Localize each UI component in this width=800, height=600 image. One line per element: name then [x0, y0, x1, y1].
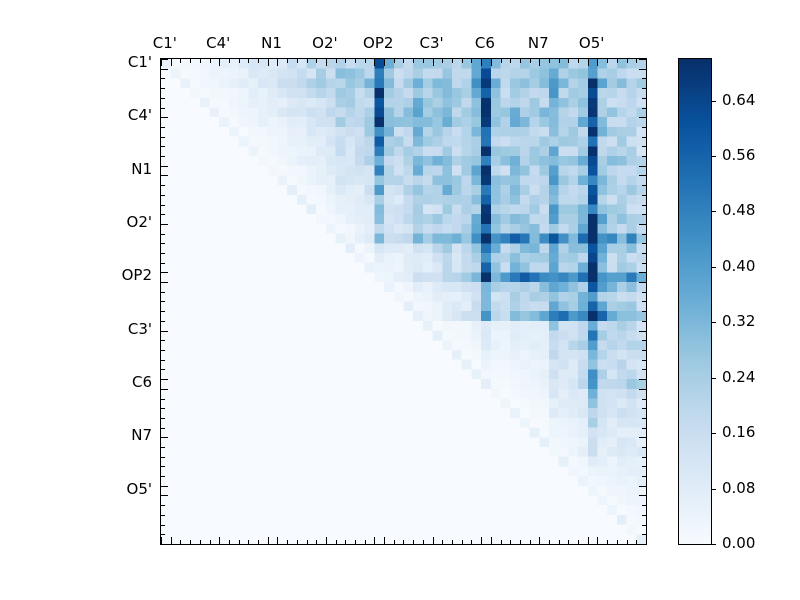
- x-tick-label: C4': [206, 34, 230, 52]
- x-tick-bottom: [307, 540, 308, 544]
- x-tick-bottom: [355, 540, 356, 544]
- y-tick-left: [161, 127, 165, 128]
- x-tick-top: [316, 59, 317, 63]
- y-tick-right: [642, 476, 646, 477]
- x-tick-bottom: [481, 537, 482, 544]
- y-tick-left: [161, 69, 168, 70]
- colorbar-gradient: [679, 59, 711, 544]
- x-tick-bottom: [345, 540, 346, 544]
- x-tick-label: N7: [528, 34, 549, 52]
- x-tick-top: [501, 59, 502, 63]
- x-tick-bottom: [413, 540, 414, 544]
- x-tick-top: [530, 59, 531, 63]
- x-tick-top: [491, 59, 492, 66]
- y-tick-label-text: OP2: [122, 266, 152, 284]
- y-tick-left: [161, 331, 168, 332]
- y-tick-right: [642, 418, 646, 419]
- x-tick-bottom: [578, 540, 579, 544]
- y-tick-left: [161, 369, 165, 370]
- y-tick-left: [161, 379, 168, 380]
- x-tick-bottom: [190, 540, 191, 544]
- y-tick-right: [639, 495, 646, 496]
- y-tick-left: [161, 166, 168, 167]
- y-tick-right: [642, 195, 646, 196]
- y-tick-right: [642, 205, 646, 206]
- y-tick-right: [639, 437, 646, 438]
- x-tick-top: [307, 59, 308, 63]
- x-tick-bottom: [326, 537, 327, 544]
- y-tick-left: [161, 88, 165, 89]
- y-tick-left: [161, 428, 165, 429]
- x-tick-bottom: [627, 540, 628, 544]
- x-tick-bottom: [607, 540, 608, 544]
- x-tick-bottom: [491, 537, 492, 544]
- x-tick-bottom: [277, 537, 278, 544]
- y-tick-left: [161, 525, 165, 526]
- x-tick-bottom: [617, 540, 618, 544]
- x-tick-top: [462, 59, 463, 63]
- y-tick-right: [642, 137, 646, 138]
- y-tick-right: [642, 185, 646, 186]
- colorbar-tick-label: 0.64: [722, 91, 755, 109]
- y-tick-left: [161, 399, 165, 400]
- y-tick-left: [161, 224, 168, 225]
- colorbar-tick: [711, 489, 716, 490]
- y-tick-left: [161, 495, 168, 496]
- y-tick-left: [161, 311, 165, 312]
- x-tick-top: [239, 59, 240, 63]
- y-tick-right: [642, 466, 646, 467]
- x-tick-bottom: [510, 540, 511, 544]
- x-tick-top: [384, 59, 385, 66]
- colorbar-canvas: [679, 59, 711, 544]
- x-tick-bottom: [442, 540, 443, 544]
- x-tick-bottom: [568, 540, 569, 544]
- y-tick-right: [639, 166, 646, 167]
- heatmap-axes: [160, 58, 647, 545]
- y-tick-right: [642, 340, 646, 341]
- y-tick-left: [161, 544, 165, 545]
- x-tick-top: [258, 59, 259, 63]
- x-tick-bottom: [423, 540, 424, 544]
- x-tick-top: [510, 59, 511, 63]
- x-tick-top: [471, 59, 472, 63]
- y-tick-right: [642, 408, 646, 409]
- y-tick-label-text: C6: [132, 373, 152, 391]
- x-tick-bottom: [200, 540, 201, 544]
- y-tick-left: [161, 98, 165, 99]
- y-tick-left: [161, 175, 168, 176]
- y-tick-right: [642, 457, 646, 458]
- x-tick-top: [403, 59, 404, 63]
- y-tick-right: [639, 59, 646, 60]
- y-tick-right: [642, 369, 646, 370]
- y-tick-left: [161, 243, 165, 244]
- y-tick-left: [161, 340, 165, 341]
- y-tick-left: [161, 418, 165, 419]
- x-tick-top: [326, 59, 327, 66]
- x-tick-bottom: [559, 540, 560, 544]
- y-tick-right: [642, 544, 646, 545]
- y-tick-left: [161, 59, 168, 60]
- y-tick-right: [642, 78, 646, 79]
- colorbar: [678, 58, 712, 545]
- x-tick-bottom: [287, 540, 288, 544]
- y-tick-left: [161, 292, 165, 293]
- x-tick-label: C6: [475, 34, 495, 52]
- y-tick-right: [642, 292, 646, 293]
- x-tick-bottom: [539, 537, 540, 544]
- y-tick-right: [639, 389, 646, 390]
- y-tick-left: [161, 301, 165, 302]
- x-tick-bottom: [403, 540, 404, 544]
- colorbar-tick-label: 0.56: [722, 146, 755, 164]
- x-tick-top: [481, 59, 482, 66]
- y-tick-right: [642, 98, 646, 99]
- y-tick-label-text: O2': [127, 213, 152, 231]
- colorbar-tick-label: 0.24: [722, 368, 755, 386]
- y-tick-label-text: C4': [128, 106, 152, 124]
- y-tick-left: [161, 195, 165, 196]
- y-tick-left: [161, 282, 168, 283]
- x-tick-bottom: [646, 540, 647, 544]
- y-tick-right: [642, 321, 646, 322]
- x-tick-bottom: [530, 540, 531, 544]
- x-tick-top: [287, 59, 288, 63]
- x-tick-bottom: [258, 540, 259, 544]
- x-tick-top: [636, 59, 637, 63]
- x-tick-top: [297, 59, 298, 63]
- x-tick-top: [219, 59, 220, 66]
- x-tick-label: O2': [312, 34, 337, 52]
- y-tick-label-text: N1: [131, 160, 152, 178]
- x-tick-top: [617, 59, 618, 63]
- y-tick-left: [161, 117, 168, 118]
- x-tick-bottom: [248, 540, 249, 544]
- colorbar-tick: [711, 101, 716, 102]
- x-tick-label: O5': [579, 34, 604, 52]
- x-tick-bottom: [597, 537, 598, 544]
- x-tick-top: [568, 59, 569, 63]
- x-tick-bottom: [365, 540, 366, 544]
- x-tick-label: OP2: [363, 34, 393, 52]
- colorbar-tick: [711, 267, 716, 268]
- x-tick-top: [433, 59, 434, 66]
- x-tick-top: [646, 59, 647, 63]
- x-tick-bottom: [239, 540, 240, 544]
- y-tick-right: [639, 117, 646, 118]
- colorbar-tick-label: 0.48: [722, 201, 755, 219]
- x-tick-top: [336, 59, 337, 63]
- y-tick-left: [161, 437, 168, 438]
- colorbar-tick: [711, 378, 716, 379]
- x-tick-top: [161, 59, 162, 66]
- y-tick-left: [161, 505, 165, 506]
- y-tick-left: [161, 272, 168, 273]
- x-tick-top: [277, 59, 278, 66]
- x-tick-bottom: [520, 540, 521, 544]
- colorbar-tick: [711, 322, 716, 323]
- x-tick-label: N1: [261, 34, 282, 52]
- y-tick-right: [642, 127, 646, 128]
- y-tick-left: [161, 205, 165, 206]
- x-tick-top: [345, 59, 346, 63]
- x-tick-bottom: [336, 540, 337, 544]
- x-tick-bottom: [636, 540, 637, 544]
- y-tick-left: [161, 408, 165, 409]
- x-tick-bottom: [394, 540, 395, 544]
- x-tick-top: [539, 59, 540, 66]
- y-tick-left: [161, 78, 165, 79]
- x-tick-top: [180, 59, 181, 63]
- x-tick-bottom: [588, 537, 589, 544]
- y-tick-label-text: O5': [127, 480, 152, 498]
- y-tick-label-text: C1': [128, 53, 152, 71]
- x-tick-bottom: [161, 537, 162, 544]
- y-tick-left: [161, 486, 168, 487]
- x-tick-bottom: [219, 537, 220, 544]
- y-tick-left: [161, 321, 165, 322]
- y-tick-right: [639, 69, 646, 70]
- x-tick-top: [452, 59, 453, 63]
- y-tick-right: [642, 311, 646, 312]
- y-tick-left: [161, 389, 168, 390]
- x-tick-label: C1': [153, 34, 177, 52]
- x-tick-bottom: [316, 540, 317, 544]
- colorbar-tick: [711, 156, 716, 157]
- x-tick-label: C3': [420, 34, 444, 52]
- y-tick-right: [642, 525, 646, 526]
- x-tick-top: [394, 59, 395, 63]
- x-tick-bottom: [384, 537, 385, 544]
- y-tick-left: [161, 234, 165, 235]
- colorbar-tick-label: 0.40: [722, 257, 755, 275]
- heatmap-grid: [161, 59, 646, 544]
- y-tick-left: [161, 108, 165, 109]
- x-tick-bottom: [297, 540, 298, 544]
- y-tick-left: [161, 350, 165, 351]
- x-tick-top: [210, 59, 211, 63]
- y-tick-left: [161, 447, 165, 448]
- x-tick-top: [549, 59, 550, 63]
- y-tick-right: [642, 243, 646, 244]
- y-tick-left: [161, 185, 165, 186]
- y-tick-right: [639, 175, 646, 176]
- y-tick-right: [642, 515, 646, 516]
- y-tick-left: [161, 263, 165, 264]
- y-tick-left: [161, 515, 165, 516]
- x-tick-top: [413, 59, 414, 63]
- y-tick-right: [642, 301, 646, 302]
- colorbar-tick-label: 0.00: [722, 534, 755, 552]
- x-tick-top: [627, 59, 628, 63]
- y-tick-right: [639, 331, 646, 332]
- y-tick-right: [642, 263, 646, 264]
- x-tick-bottom: [471, 540, 472, 544]
- heatmap-cells: [161, 59, 646, 544]
- y-tick-right: [642, 88, 646, 89]
- x-tick-top: [607, 59, 608, 63]
- x-tick-bottom: [210, 540, 211, 544]
- y-tick-left: [161, 156, 165, 157]
- y-tick-right: [642, 447, 646, 448]
- x-tick-bottom: [171, 537, 172, 544]
- y-tick-right: [642, 399, 646, 400]
- x-tick-bottom: [549, 540, 550, 544]
- x-tick-top: [578, 59, 579, 63]
- y-tick-right: [639, 379, 646, 380]
- x-tick-bottom: [462, 540, 463, 544]
- x-tick-top: [200, 59, 201, 63]
- x-tick-top: [520, 59, 521, 63]
- y-tick-right: [642, 253, 646, 254]
- y-tick-right: [639, 224, 646, 225]
- y-tick-left: [161, 457, 165, 458]
- x-tick-bottom: [433, 537, 434, 544]
- y-tick-right: [642, 428, 646, 429]
- y-tick-left: [161, 360, 165, 361]
- x-tick-bottom: [229, 540, 230, 544]
- y-tick-right: [642, 156, 646, 157]
- y-tick-right: [642, 214, 646, 215]
- x-tick-bottom: [268, 537, 269, 544]
- colorbar-tick-label: 0.08: [722, 479, 755, 497]
- heatmap-figure: C1'C4'N1O2'OP2C3'C6N7O5' C1'C4'N1O2'OP2C…: [0, 0, 800, 600]
- y-tick-label-text: N7: [131, 426, 152, 444]
- y-tick-right: [642, 350, 646, 351]
- x-tick-top: [597, 59, 598, 66]
- x-tick-bottom: [374, 537, 375, 544]
- x-tick-top: [442, 59, 443, 63]
- y-tick-right: [639, 486, 646, 487]
- y-tick-right: [642, 108, 646, 109]
- y-tick-left: [161, 137, 165, 138]
- y-tick-right: [642, 360, 646, 361]
- y-tick-left: [161, 146, 165, 147]
- y-tick-right: [639, 282, 646, 283]
- x-tick-top: [171, 59, 172, 66]
- y-tick-left: [161, 534, 165, 535]
- y-tick-right: [642, 234, 646, 235]
- y-tick-left: [161, 253, 165, 254]
- y-tick-left: [161, 466, 165, 467]
- x-tick-bottom: [452, 540, 453, 544]
- x-tick-top: [423, 59, 424, 63]
- x-tick-top: [248, 59, 249, 63]
- colorbar-tick: [711, 544, 716, 545]
- y-tick-left: [161, 476, 165, 477]
- y-tick-right: [642, 505, 646, 506]
- x-tick-top: [268, 59, 269, 66]
- y-tick-right: [642, 146, 646, 147]
- x-tick-top: [374, 59, 375, 66]
- y-tick-label-text: C3': [128, 320, 152, 338]
- x-tick-bottom: [180, 540, 181, 544]
- colorbar-tick-label: 0.32: [722, 312, 755, 330]
- x-tick-top: [229, 59, 230, 63]
- x-tick-bottom: [501, 540, 502, 544]
- x-tick-top: [355, 59, 356, 63]
- colorbar-tick: [711, 211, 716, 212]
- x-tick-top: [588, 59, 589, 66]
- y-tick-left: [161, 214, 165, 215]
- x-tick-top: [559, 59, 560, 63]
- y-tick-right: [639, 272, 646, 273]
- y-tick-right: [642, 534, 646, 535]
- x-tick-top: [365, 59, 366, 63]
- colorbar-tick: [711, 433, 716, 434]
- x-tick-top: [190, 59, 191, 63]
- colorbar-tick-label: 0.16: [722, 423, 755, 441]
